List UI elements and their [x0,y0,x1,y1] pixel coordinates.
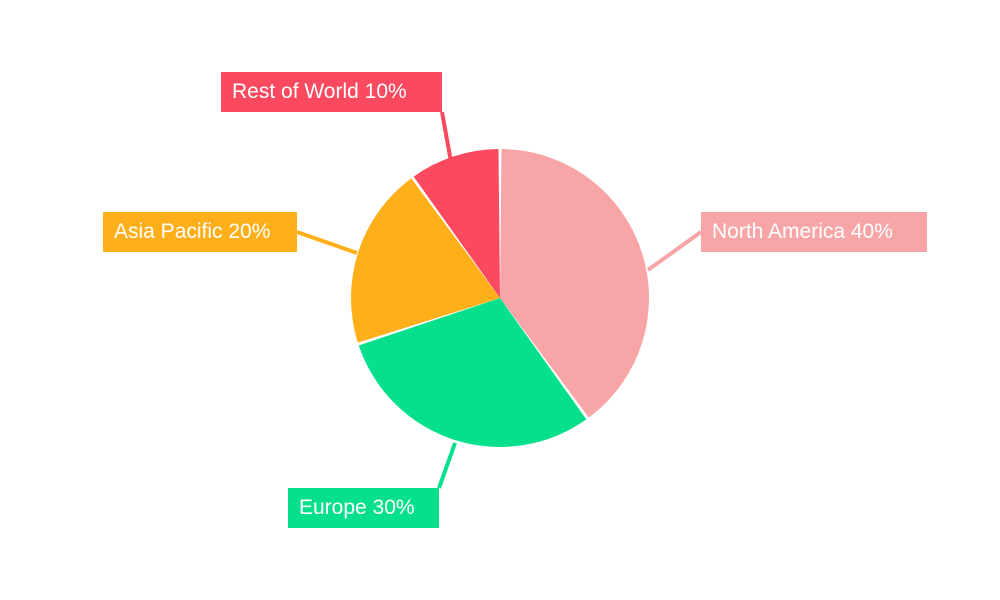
pie-wedges [351,149,649,447]
pie-chart [0,0,1000,600]
leader-line-north-america [648,232,701,270]
pie-label-asia-pacific: Asia Pacific 20% [103,212,297,252]
pie-label-europe: Europe 30% [288,488,439,528]
leader-line-asia-pacific [297,232,357,253]
leader-line-europe [439,443,455,488]
chart-canvas: North America 40% Europe 30% Asia Pacifi… [0,0,1000,600]
pie-label-north-america: North America 40% [701,212,927,252]
pie-label-rest-of-world: Rest of World 10% [221,72,442,112]
